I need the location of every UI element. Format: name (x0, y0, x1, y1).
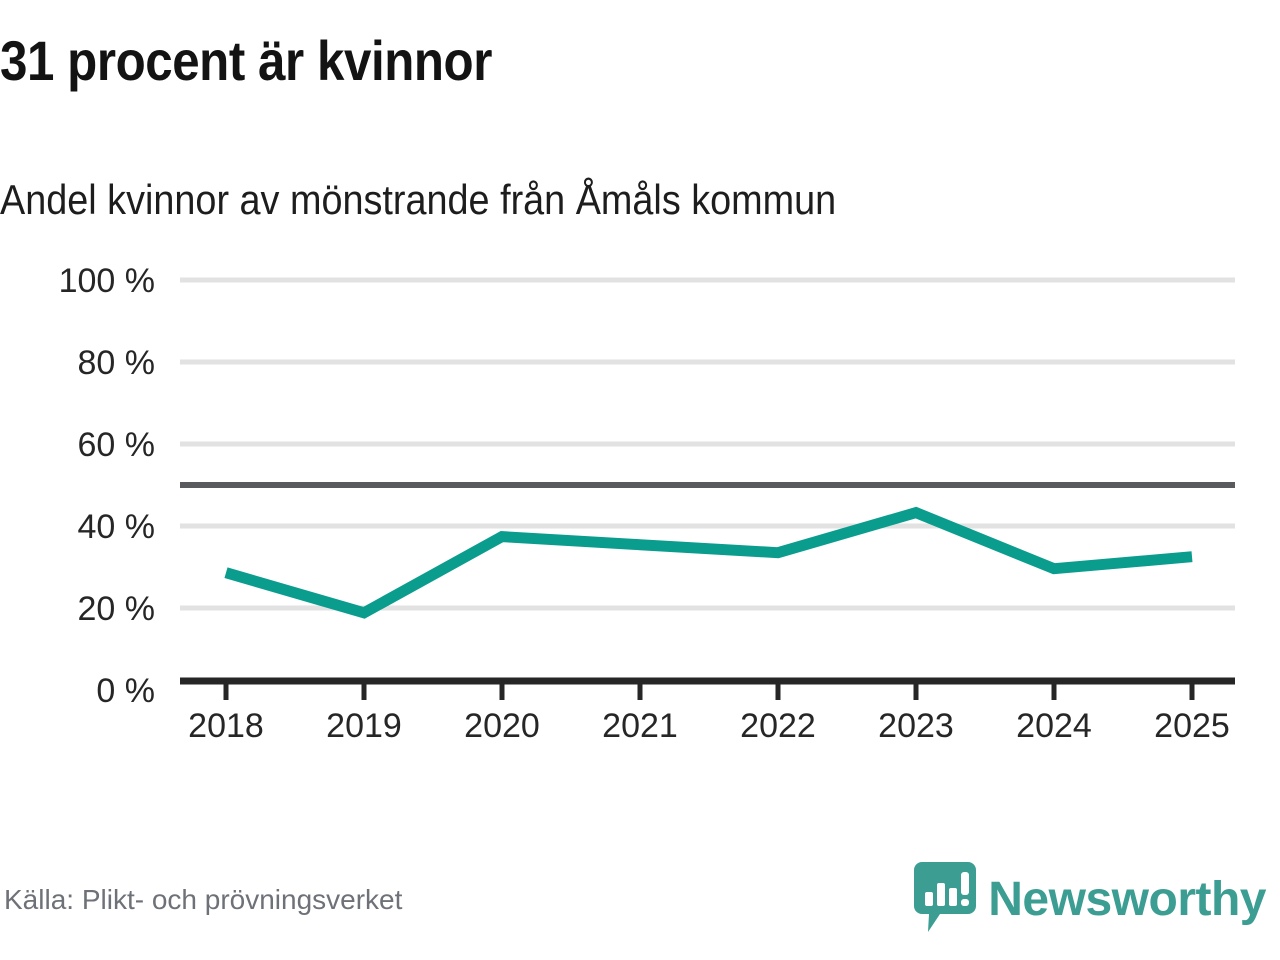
chart-page: 31 procent är kvinnor Andel kvinnor av m… (0, 0, 1280, 960)
x-tick-label-2019: 2019 (326, 707, 402, 745)
y-tick-label-80: 80 % (78, 344, 156, 382)
line-chart-svg: 100 % 80 % 60 % 40 % 20 % 0 % 2018201920… (0, 250, 1280, 760)
x-tick-label-2023: 2023 (878, 707, 954, 745)
page-title: 31 procent är kvinnor (0, 32, 1091, 91)
x-tick-label-2024: 2024 (1016, 707, 1092, 745)
y-tick-label-40: 40 % (78, 508, 156, 546)
x-tick-label-2022: 2022 (740, 707, 816, 745)
x-tick-label-2020: 2020 (464, 707, 540, 745)
x-tick-label-2021: 2021 (602, 707, 678, 745)
y-tick-label-20: 20 % (78, 590, 156, 628)
y-tick-label-100: 100 % (59, 262, 155, 300)
chart-subtitle: Andel kvinnor av mönstrande från Åmåls k… (0, 178, 1134, 222)
newsworthy-logo[interactable]: Newsworthy (914, 862, 1266, 938)
x-tick-label-2025: 2025 (1154, 707, 1230, 745)
x-tick-label-2018: 2018 (188, 707, 264, 745)
y-tick-label-0: 0 % (96, 672, 155, 710)
gridlines (180, 280, 1235, 608)
chart-plot-area: 100 % 80 % 60 % 40 % 20 % 0 % 2018201920… (0, 250, 1280, 760)
logo-wordmark: Newsworthy (988, 876, 1266, 924)
bar-chart-speech-bubble-icon (914, 862, 976, 939)
x-axis-labels: 20182019202020212022202320242025 (188, 707, 1230, 745)
y-axis-labels: 100 % 80 % 60 % 40 % 20 % 0 % (59, 262, 155, 710)
source-note: Källa: Plikt- och prövningsverket (4, 884, 402, 916)
y-tick-label-60: 60 % (78, 426, 156, 464)
